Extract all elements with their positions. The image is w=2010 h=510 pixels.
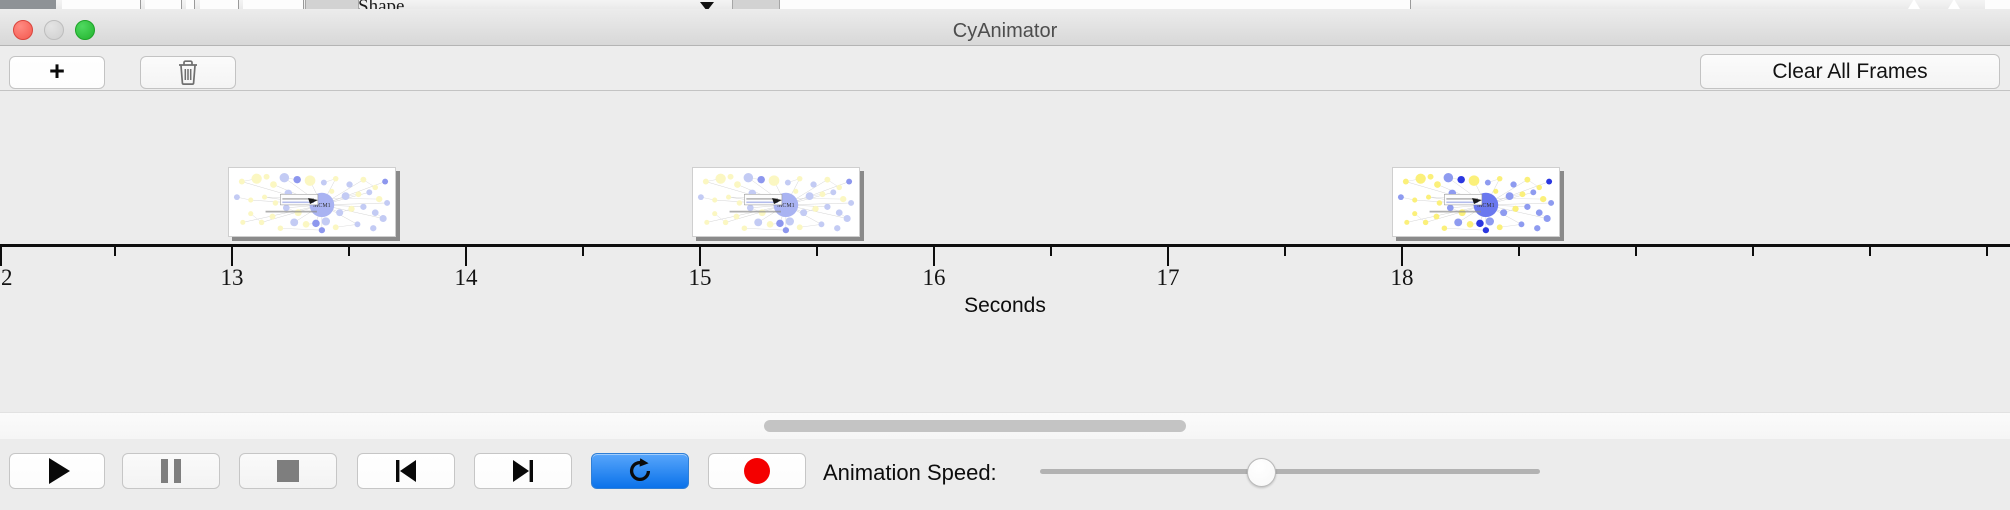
axis-title: Seconds: [0, 294, 2010, 318]
network-graph-preview: MCM1: [693, 168, 859, 236]
cyanimator-window: Shape CyAnimator + Clear All Frames: [0, 0, 2010, 510]
tick-minor: [1869, 244, 1871, 256]
tick-minor: [1752, 244, 1754, 256]
tick-major: [231, 244, 233, 266]
clear-all-frames-button[interactable]: Clear All Frames: [1700, 54, 2000, 89]
play-icon: [49, 458, 70, 484]
tick-minor: [1986, 244, 1988, 256]
timeline-panel[interactable]: 12131415161718 MCM1MCM1MCM1 Seconds: [0, 91, 2010, 411]
tick-major: [699, 244, 701, 266]
tick-major: [1167, 244, 1169, 266]
frame-plate: MCM1: [692, 167, 860, 237]
record-button[interactable]: [708, 453, 806, 489]
tick-label: 18: [1391, 265, 1414, 291]
tick-major: [0, 244, 2, 266]
tick-minor: [114, 244, 116, 256]
skip-back-icon: [393, 459, 419, 483]
tick-minor: [1284, 244, 1286, 256]
tick-minor: [348, 244, 350, 256]
add-frame-button[interactable]: +: [9, 56, 105, 89]
record-icon: [744, 458, 770, 484]
plus-icon: +: [49, 58, 65, 85]
title-bar: CyAnimator: [0, 9, 2010, 46]
tick-major: [1401, 244, 1403, 266]
timeline-frame-thumbnail[interactable]: MCM1: [692, 167, 862, 239]
play-button[interactable]: [9, 453, 105, 489]
tick-minor: [1635, 244, 1637, 256]
stop-button[interactable]: [239, 453, 337, 489]
stop-icon: [277, 460, 299, 482]
tick-label: 17: [1157, 265, 1180, 291]
tick-major: [465, 244, 467, 266]
tick-label: 14: [455, 265, 478, 291]
scrollbar-thumb[interactable]: [764, 420, 1186, 432]
tick-label: 16: [923, 265, 946, 291]
pause-icon: [161, 459, 181, 483]
timeline-axis-line: [0, 244, 2010, 247]
tick-major: [933, 244, 935, 266]
tick-label: 13: [221, 265, 244, 291]
network-graph-preview: MCM1: [229, 168, 395, 236]
tick-label: 15: [689, 265, 712, 291]
slider-thumb[interactable]: [1247, 458, 1276, 487]
timeline-scrollbar[interactable]: [0, 412, 2010, 440]
frame-plate: MCM1: [1392, 167, 1560, 237]
pause-button[interactable]: [122, 453, 220, 489]
network-graph-preview: MCM1: [1393, 168, 1559, 236]
playback-bar: Animation Speed:: [0, 439, 2010, 510]
slider-track[interactable]: [1040, 469, 1540, 474]
delete-frame-button[interactable]: [140, 56, 236, 89]
tick-minor: [816, 244, 818, 256]
tick-label: 12: [0, 265, 13, 291]
trash-icon: [177, 60, 199, 85]
frame-plate: MCM1: [228, 167, 396, 237]
tick-minor: [582, 244, 584, 256]
loop-icon: [626, 457, 654, 485]
animation-speed-label: Animation Speed:: [823, 460, 997, 486]
previous-frame-button[interactable]: [357, 453, 455, 489]
timeline-frame-thumbnail[interactable]: MCM1: [228, 167, 398, 239]
skip-forward-icon: [510, 459, 536, 483]
loop-button[interactable]: [591, 453, 689, 489]
animation-speed-slider[interactable]: [1040, 469, 1540, 474]
next-frame-button[interactable]: [474, 453, 572, 489]
tick-minor: [1518, 244, 1520, 256]
timeline-frame-thumbnail[interactable]: MCM1: [1392, 167, 1562, 239]
window-title: CyAnimator: [0, 20, 2010, 43]
tick-minor: [1050, 244, 1052, 256]
frame-toolbar: + Clear All Frames: [0, 46, 2010, 91]
